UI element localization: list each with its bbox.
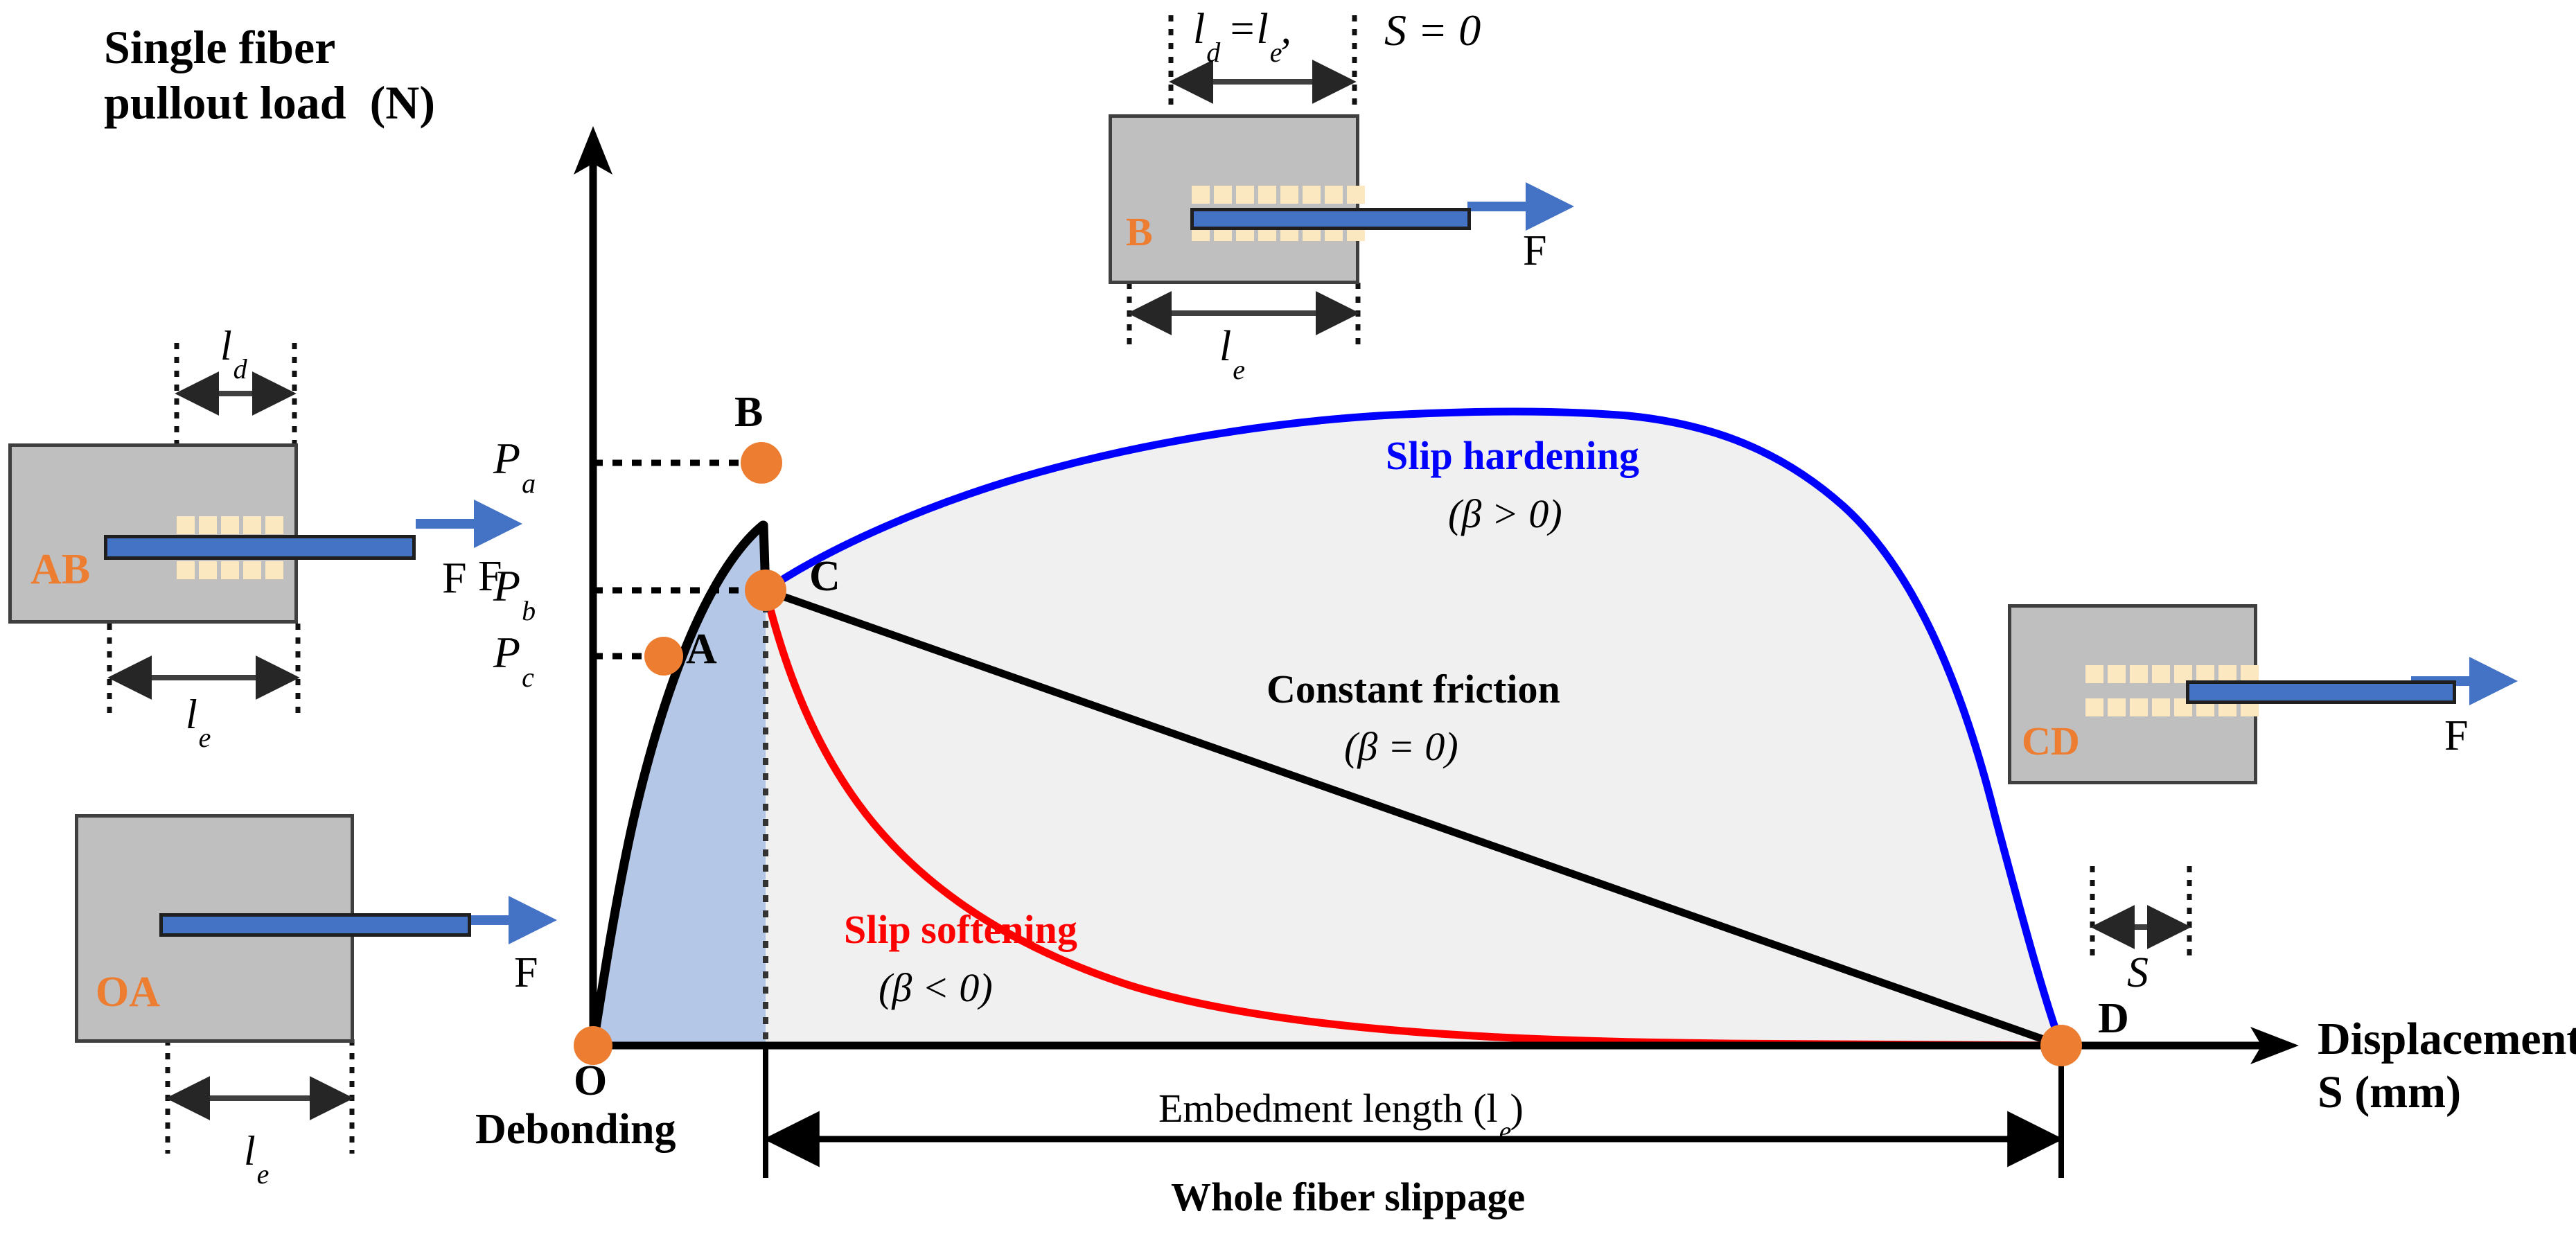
embedment-length-sub: e (1499, 1116, 1512, 1147)
le-base: l (1219, 323, 1231, 370)
y-tick-label-Pc: Pc (493, 629, 533, 682)
inset-AB-tag: AB (30, 547, 90, 592)
debonding-region-fill (593, 525, 766, 1046)
annotation-constant-friction-title: Constant friction (1267, 669, 1560, 711)
y-tick-label-Pa: Pa (493, 435, 534, 488)
inset-B-dim-expr: ld =le, (1193, 7, 1291, 58)
pc-sub: c (522, 662, 534, 693)
inset-AB-dim-ld: ld (220, 324, 246, 374)
equals-sign: = (1219, 6, 1256, 53)
annotation-slip-hardening-condition: (β > 0) (1448, 493, 1562, 536)
point-marker-C (745, 570, 786, 611)
inset-CD-tag: CD (2022, 721, 2080, 763)
inset-B-dim-le: le (1219, 324, 1244, 375)
inset-OA-dim-le: le (244, 1129, 267, 1179)
annotation-constant-friction-condition: (β = 0) (1344, 726, 1458, 768)
point-label-A: A (686, 627, 717, 672)
axis-force-symbol: F (442, 554, 467, 601)
inset-OA-tag: OA (96, 970, 160, 1015)
ld-sub: d (1206, 37, 1220, 68)
inset-CD-dimensions (2092, 866, 2189, 963)
inset-OA-fiber (159, 913, 471, 937)
annotation-slip-softening-condition: (β < 0) (879, 967, 993, 1009)
inset-CD-fiber (2186, 680, 2456, 704)
inset-OA-force-label: F (514, 951, 538, 996)
ld-base: l (220, 323, 232, 369)
inset-B-dim-S-expr: S = 0 (1384, 7, 1481, 53)
pc-base: P (493, 628, 520, 677)
inset-AB-bond-blocks-top (177, 516, 283, 534)
whole-fiber-slippage-label: Whole fiber slippage (1171, 1176, 1525, 1219)
origin-debonding-label: Debonding (475, 1107, 676, 1152)
inset-CD-dim-S: S (2127, 951, 2149, 996)
point-marker-A (644, 637, 683, 676)
annotation-slip-hardening-title: Slip hardening (1386, 435, 1639, 477)
point-marker-B (741, 442, 782, 484)
y-axis-title: Single fiber pullout load (N) (104, 19, 435, 130)
y-tick-label-Pb: Pb (493, 563, 534, 616)
pa-base: P (493, 434, 520, 483)
annotation-slip-softening-title: Slip softening (844, 909, 1077, 951)
inset-AB-fiber (104, 535, 416, 560)
inset-B-fiber (1190, 208, 1471, 230)
le-base: l (244, 1128, 256, 1174)
embedment-length-close: ) (1510, 1086, 1523, 1131)
le-sub: e (1233, 354, 1245, 385)
pb-base: P (493, 561, 520, 610)
le-base: l (1256, 6, 1268, 53)
inset-B-tag: B (1126, 211, 1153, 254)
pb-sub: b (522, 595, 536, 626)
embedment-length-label: Embedment length (le) (1158, 1088, 1524, 1136)
le-base: l (186, 691, 197, 737)
point-label-C: C (809, 554, 840, 599)
inset-AB-dim-le: le (186, 693, 209, 743)
inset-AB-bond-blocks-bottom (177, 561, 283, 579)
comma-sep: , (1280, 6, 1291, 53)
embedment-length-text: Embedment length (l (1158, 1086, 1498, 1131)
le-sub: e (257, 1158, 270, 1190)
le-sub: e (1270, 37, 1282, 68)
point-label-O: O (574, 1059, 607, 1104)
point-label-D: D (2098, 996, 2129, 1041)
point-label-B: B (734, 390, 763, 435)
inset-B-force-label: F (1523, 229, 1546, 274)
inset-CD-force-label: F (2444, 714, 2468, 759)
pa-sub: a (522, 468, 536, 499)
ld-base: l (1193, 6, 1205, 53)
inset-B-bond-blocks-top (1192, 186, 1365, 204)
point-marker-D (2040, 1025, 2082, 1066)
ld-sub: d (233, 353, 247, 385)
x-axis-title: Displacement S (mm) (2318, 1013, 2576, 1119)
le-sub: e (199, 722, 211, 753)
